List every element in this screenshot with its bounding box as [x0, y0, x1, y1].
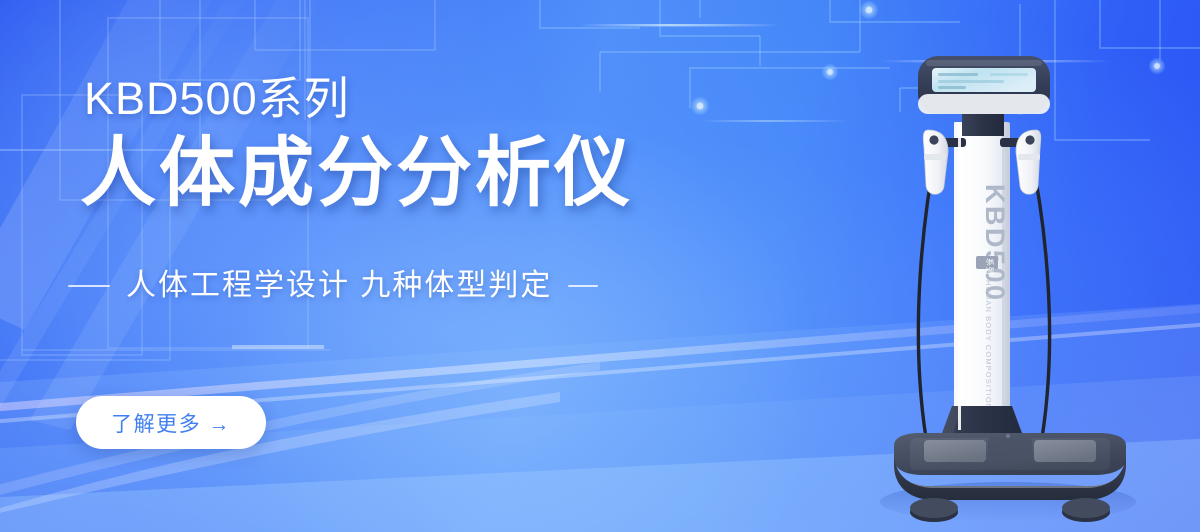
device-badge-text: 系列	[985, 258, 995, 275]
device-center-plate	[988, 438, 1032, 458]
device-illustration: KBD500 系列 HUMAN BODY COMPOSITION ANALYZE…	[830, 34, 1190, 532]
device-foot-pad-right	[1034, 440, 1096, 462]
learn-more-button[interactable]: 了解更多 →	[76, 396, 266, 449]
product-series-label: KBD500系列	[84, 72, 350, 126]
learn-more-button-label: 了解更多 →	[111, 408, 231, 438]
divider-dash-right	[568, 285, 598, 287]
subtitle-text: 人体工程学设计 九种体型判定	[126, 266, 552, 306]
circuit-dot	[860, 1, 878, 19]
page-title: 人体成分分析仪	[80, 128, 633, 220]
device-foot-pad-left	[924, 440, 986, 462]
subtitle-row: 人体工程学设计 九种体型判定	[68, 266, 598, 306]
divider-dash-left	[68, 285, 110, 287]
body-composition-analyzer-graphic: KBD500 系列 HUMAN BODY COMPOSITION ANALYZE…	[830, 34, 1190, 532]
hero-banner: KBD500系列 人体成分分析仪 人体工程学设计 九种体型判定 了解更多 →	[0, 0, 1200, 532]
device-display-chin	[918, 94, 1050, 114]
hero-text-block: KBD500系列 人体成分分析仪 人体工程学设计 九种体型判定 了解更多 →	[0, 0, 720, 532]
